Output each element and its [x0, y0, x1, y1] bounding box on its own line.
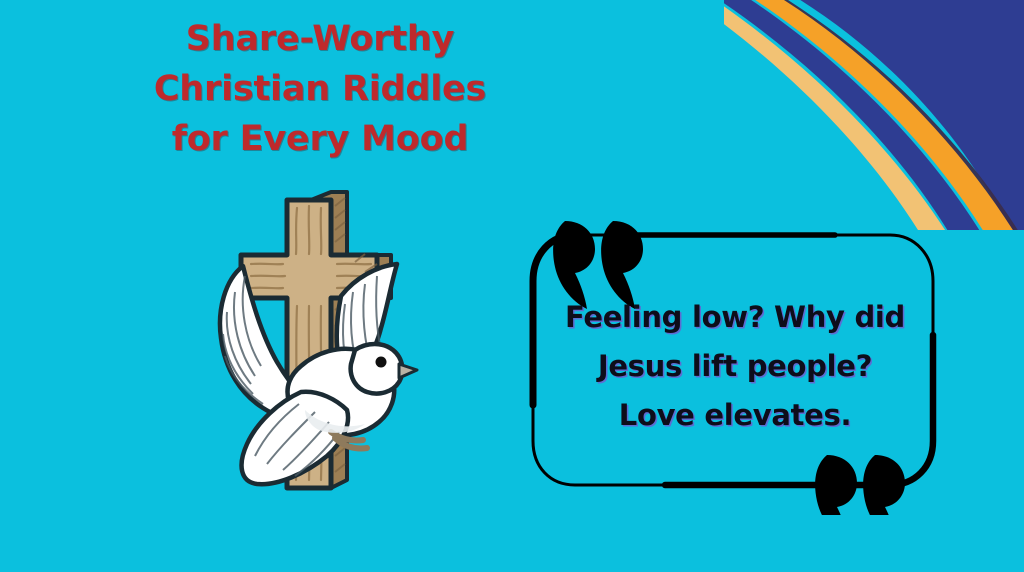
page-title-line-1: Share-Worthy	[120, 14, 520, 64]
corner-arc-decoration	[724, 0, 1024, 230]
dove-head	[351, 344, 403, 394]
quote-line-3: Love elevates.	[545, 391, 925, 440]
corner-arc-navy	[784, 0, 1024, 230]
corner-arc-navy-inner	[724, 0, 998, 230]
poster-canvas: Share-Worthy Christian Riddles for Every…	[0, 0, 1024, 572]
close-quote-icon	[815, 455, 905, 515]
dove-eye	[376, 357, 387, 368]
corner-arc-orange	[740, 0, 1024, 230]
cross-and-dove-illustration	[205, 180, 440, 520]
corner-arc-cyan	[724, 0, 948, 230]
quote-line-1: Feeling low? Why did	[545, 293, 925, 342]
quote-card: Feeling low? Why did Jesus lift people? …	[505, 205, 960, 515]
dove-beak	[399, 364, 417, 378]
page-title-line-3: for Every Mood	[120, 114, 520, 164]
quote-line-2: Jesus lift people?	[545, 342, 925, 391]
quote-text: Feeling low? Why did Jesus lift people? …	[545, 293, 925, 440]
corner-arc-seam	[742, 0, 1024, 230]
page-title: Share-Worthy Christian Riddles for Every…	[120, 14, 520, 164]
corner-arc-tan	[724, 0, 972, 230]
page-title-line-2: Christian Riddles	[120, 64, 520, 114]
